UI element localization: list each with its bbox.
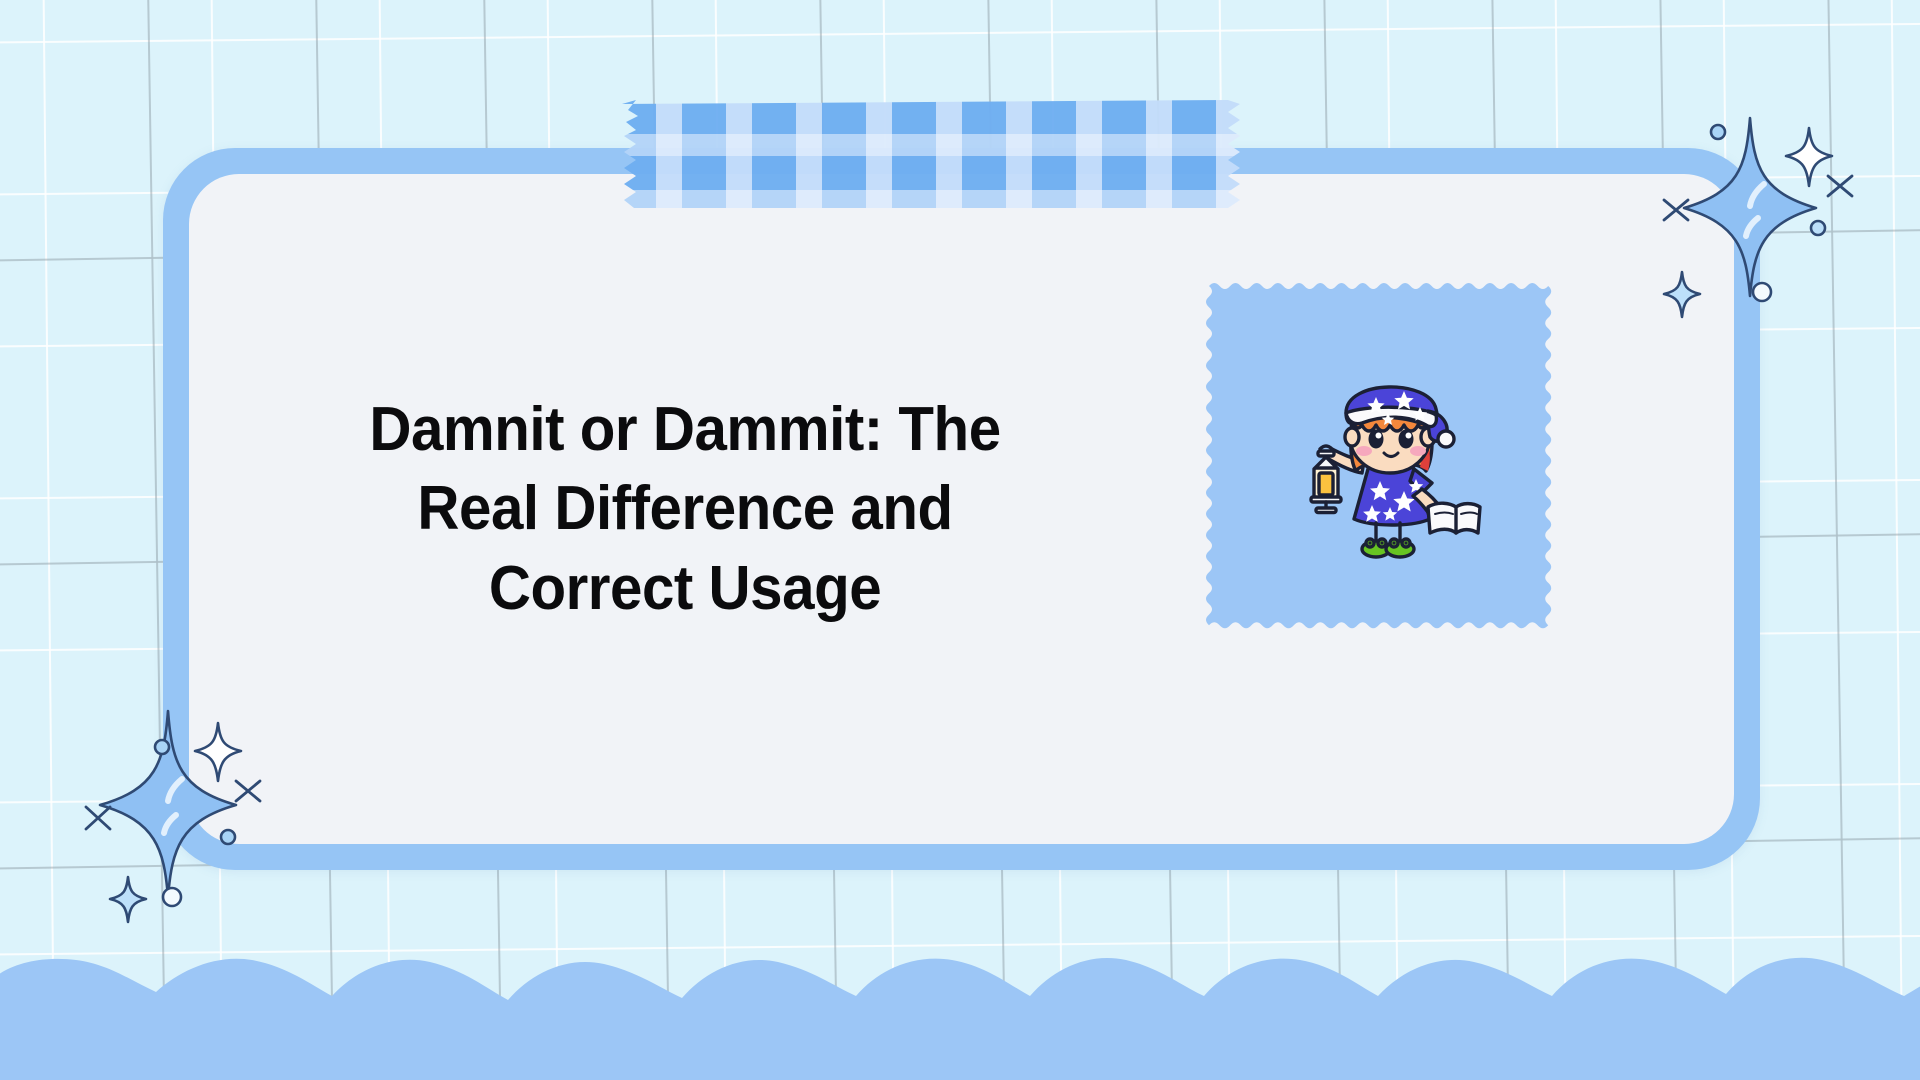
title-line-2: Real Difference and (271, 469, 1098, 548)
hero-card: Damnit or Dammit: The Real Difference an… (163, 148, 1760, 870)
poster-stage: Damnit or Dammit: The Real Difference an… (0, 0, 1920, 1080)
title-text: Damnit or Dammit: The Real Difference an… (271, 390, 1098, 628)
illustration-panel (1199, 276, 1581, 658)
hero-card-inner: Damnit or Dammit: The Real Difference an… (189, 174, 1734, 844)
title-line-1: Damnit or Dammit: The (271, 390, 1098, 469)
page-title: Damnit or Dammit: The Real Difference an… (245, 390, 1125, 628)
gingham-washi-tape (612, 100, 1252, 212)
title-line-3: Correct Usage (271, 549, 1098, 628)
girl-in-pajamas-icon (1280, 357, 1500, 577)
